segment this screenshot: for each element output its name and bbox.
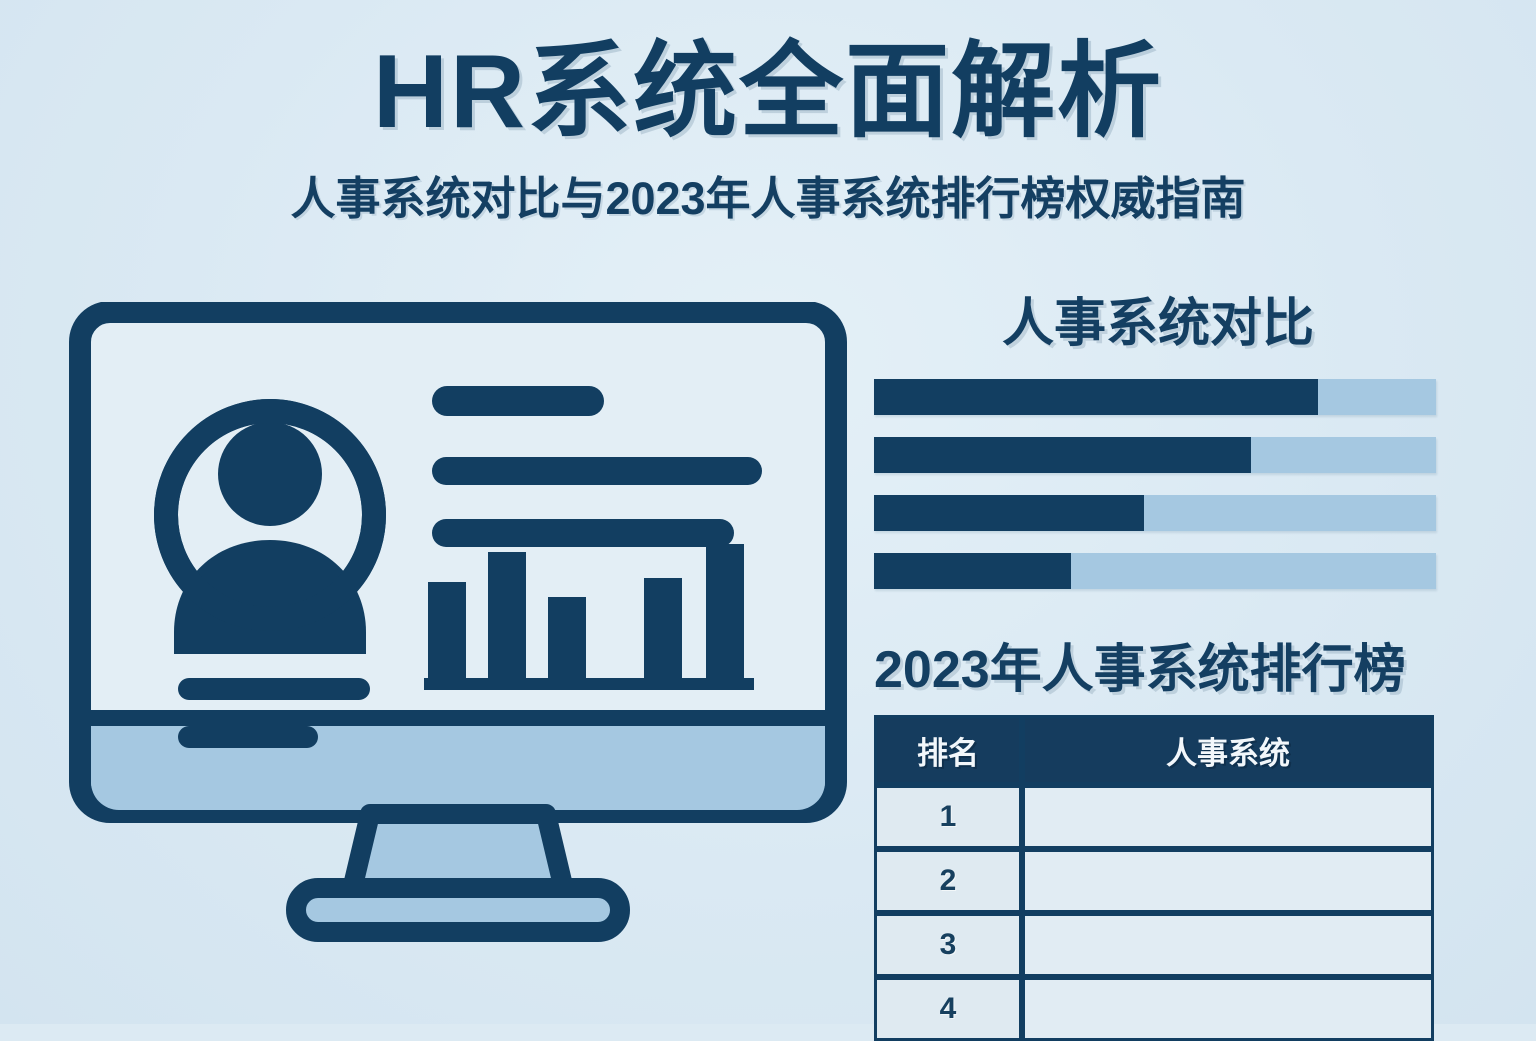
monitor-base xyxy=(296,888,620,932)
page-subtitle: 人事系统对比与2023年人事系统排行榜权威指南 xyxy=(0,162,1536,227)
comparison-bars xyxy=(874,379,1436,589)
mini-bar-4 xyxy=(644,578,682,678)
comparison-heading: 人事系统对比 xyxy=(880,296,1436,353)
mini-bar-2 xyxy=(488,552,526,678)
cell-system[interactable] xyxy=(1022,785,1434,849)
comparison-bar-row xyxy=(874,553,1436,589)
monitor-icon xyxy=(68,302,848,942)
comparison-bar-row xyxy=(874,495,1436,531)
column-header-system: 人事系统 xyxy=(1022,715,1434,785)
table-header-row: 排名 人事系统 xyxy=(874,715,1434,785)
poster-header: HR系统全面解析 人事系统对比与2023年人事系统排行榜权威指南 xyxy=(0,34,1536,227)
comparison-bar-row xyxy=(874,379,1436,415)
comparison-bar-fill xyxy=(874,553,1071,589)
cell-rank: 4 xyxy=(874,977,1022,1041)
cell-system[interactable] xyxy=(1022,849,1434,913)
ranking-table-body: 1 2 3 4 xyxy=(874,785,1434,1041)
ranking-heading: 2023年人事系统排行榜 xyxy=(874,642,1436,699)
cell-system[interactable] xyxy=(1022,977,1434,1041)
table-row: 1 xyxy=(874,785,1434,849)
ranking-table: 排名 人事系统 1 2 3 4 xyxy=(874,715,1434,1041)
table-row: 4 xyxy=(874,977,1434,1041)
ranking-section: 2023年人事系统排行榜 排名 人事系统 1 2 3 xyxy=(874,642,1436,1041)
comparison-section: 人事系统对比 xyxy=(874,296,1436,589)
comparison-bar-fill xyxy=(874,437,1251,473)
mini-bar-3 xyxy=(548,597,586,678)
infographic-poster: HR系统全面解析 人事系统对比与2023年人事系统排行榜权威指南 xyxy=(0,0,1536,1024)
column-header-rank: 排名 xyxy=(874,715,1022,785)
comparison-bar-fill xyxy=(874,379,1318,415)
cell-rank: 1 xyxy=(874,785,1022,849)
cell-system[interactable] xyxy=(1022,913,1434,977)
profile-text-line-2 xyxy=(178,726,318,748)
page-title: HR系统全面解析 xyxy=(0,34,1536,150)
cell-rank: 2 xyxy=(874,849,1022,913)
comparison-bar-row xyxy=(874,437,1436,473)
screen-text-line-2 xyxy=(432,457,762,485)
screen-text-line-3 xyxy=(432,519,734,547)
hr-dashboard-monitor-illustration xyxy=(68,302,848,942)
table-row: 2 xyxy=(874,849,1434,913)
table-row: 3 xyxy=(874,913,1434,977)
mini-chart-baseline xyxy=(424,678,754,690)
cell-rank: 3 xyxy=(874,913,1022,977)
mini-bar-5 xyxy=(706,544,744,678)
monitor-screen-divider xyxy=(91,710,825,726)
comparison-bar-fill xyxy=(874,495,1144,531)
profile-text-line-1 xyxy=(178,678,370,700)
screen-text-line-1 xyxy=(432,386,604,416)
mini-bar-1 xyxy=(428,582,466,678)
